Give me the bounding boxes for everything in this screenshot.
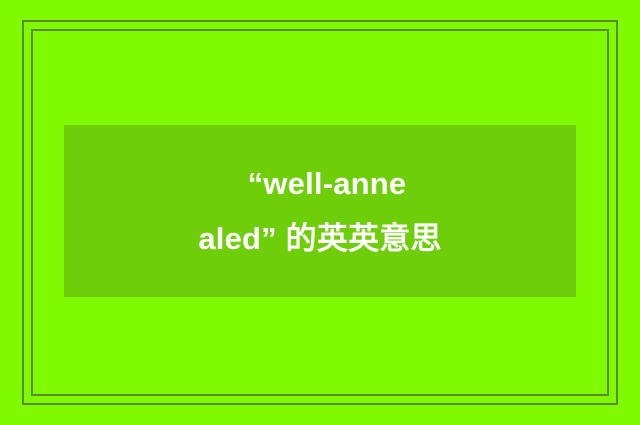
headline-line-1: “well-anne [234, 156, 407, 211]
headline-line-2: aled” 的英英意思 [198, 211, 441, 266]
poster-canvas: “well-anne aled” 的英英意思 [0, 0, 640, 425]
headline-panel: “well-anne aled” 的英英意思 [64, 125, 576, 297]
